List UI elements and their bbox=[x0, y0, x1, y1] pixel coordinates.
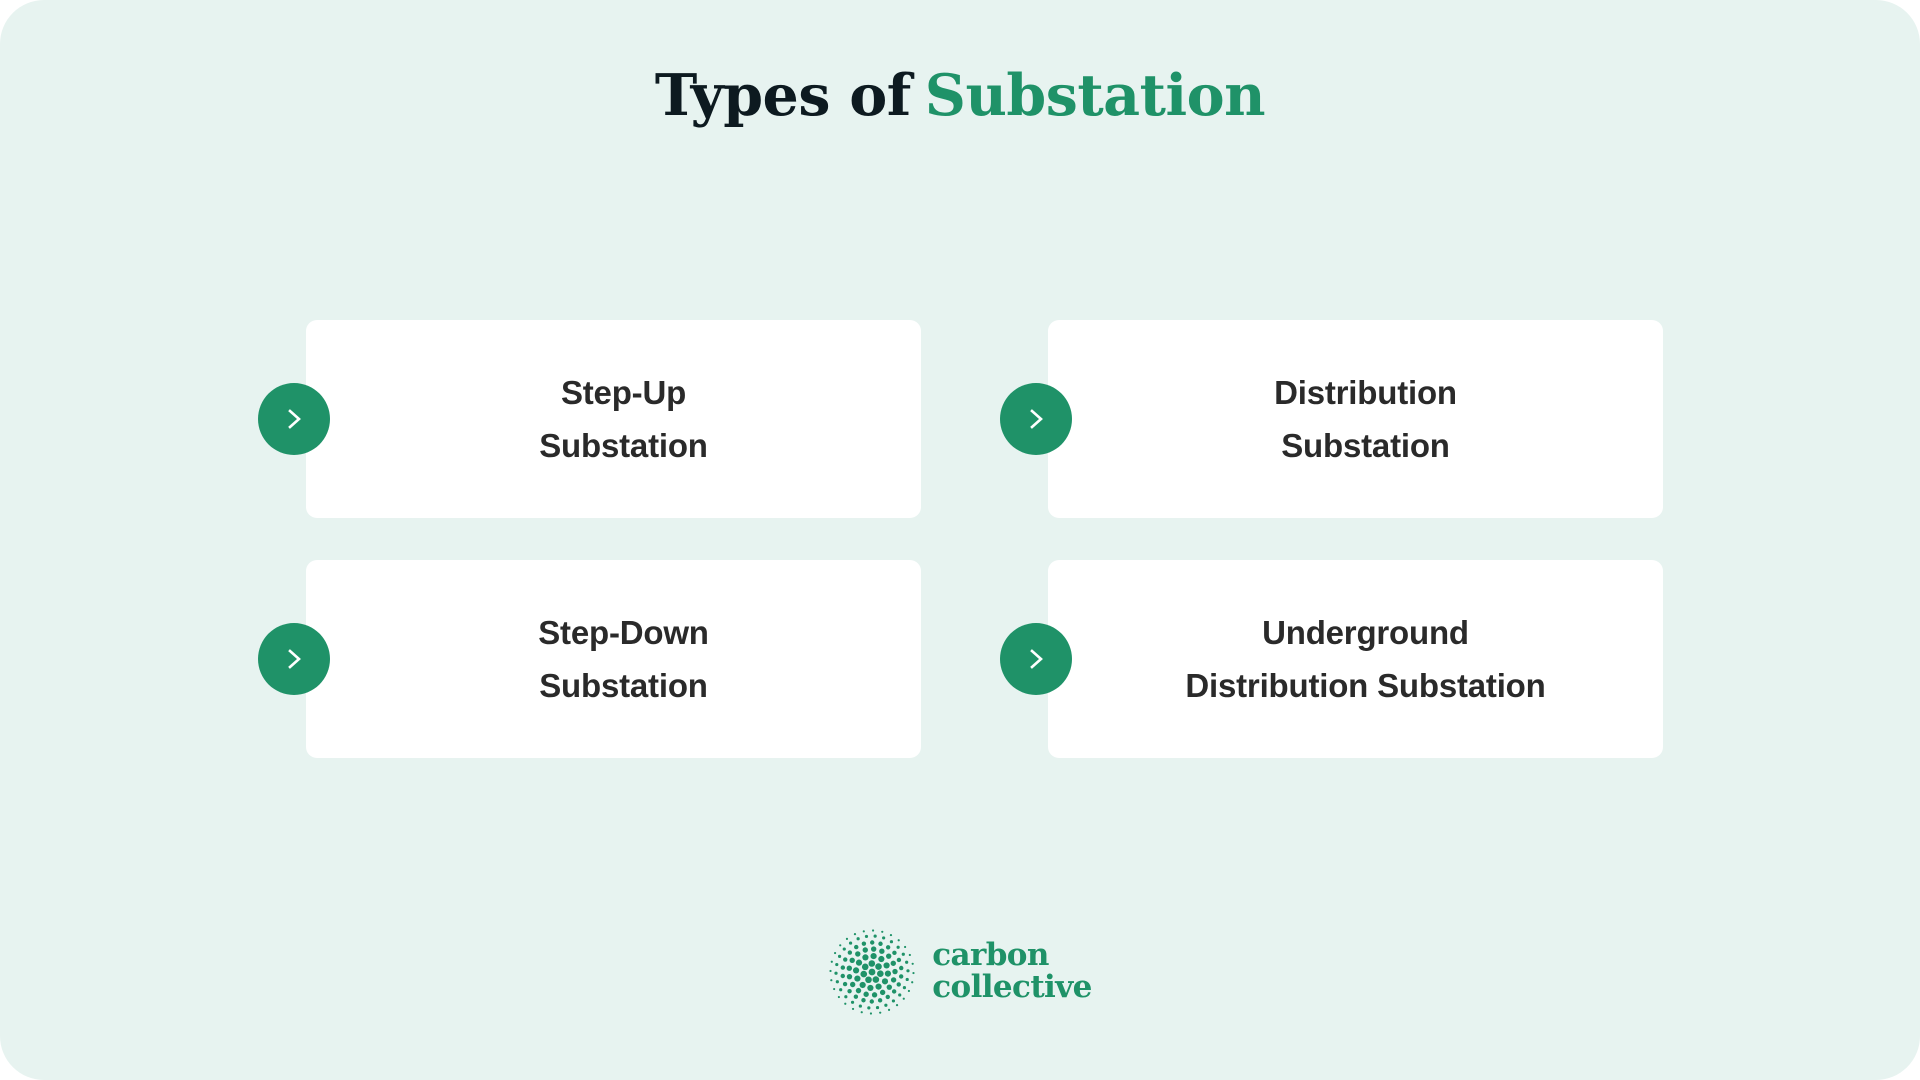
page-title: Types ofSubstation bbox=[0, 62, 1920, 129]
brand-wordmark: carbon collective bbox=[932, 940, 1092, 1003]
substation-card-label: Underground Distribution Substation bbox=[1185, 606, 1545, 713]
substation-card[interactable]: Underground Distribution Substation bbox=[1048, 560, 1663, 758]
page-title-accent: Substation bbox=[925, 62, 1265, 129]
substation-card[interactable]: Step-Down Substation bbox=[306, 560, 921, 758]
substation-card-label: Distribution Substation bbox=[1274, 366, 1457, 473]
brand-line-1: carbon bbox=[932, 940, 1092, 972]
substation-types-grid: Step-Up Substation Distribution Substati… bbox=[258, 320, 1663, 766]
dot-cluster-logo-icon bbox=[828, 928, 916, 1016]
substation-type-item[interactable]: Step-Down Substation bbox=[306, 560, 921, 758]
chevron-right-icon bbox=[1000, 383, 1072, 455]
chevron-right-icon bbox=[258, 383, 330, 455]
infographic-canvas: Types ofSubstation Step-Up Substation Di… bbox=[0, 0, 1920, 1080]
substation-card[interactable]: Distribution Substation bbox=[1048, 320, 1663, 518]
substation-type-item[interactable]: Underground Distribution Substation bbox=[1048, 560, 1663, 758]
brand-line-2: collective bbox=[932, 972, 1092, 1004]
page-title-lead: Types of bbox=[655, 62, 911, 129]
brand-footer: carbon collective bbox=[0, 928, 1920, 1016]
substation-type-item[interactable]: Distribution Substation bbox=[1048, 320, 1663, 518]
substation-card-label: Step-Up Substation bbox=[539, 366, 708, 473]
substation-card[interactable]: Step-Up Substation bbox=[306, 320, 921, 518]
chevron-right-icon bbox=[258, 623, 330, 695]
chevron-right-icon bbox=[1000, 623, 1072, 695]
substation-card-label: Step-Down Substation bbox=[538, 606, 709, 713]
substation-type-item[interactable]: Step-Up Substation bbox=[306, 320, 921, 518]
